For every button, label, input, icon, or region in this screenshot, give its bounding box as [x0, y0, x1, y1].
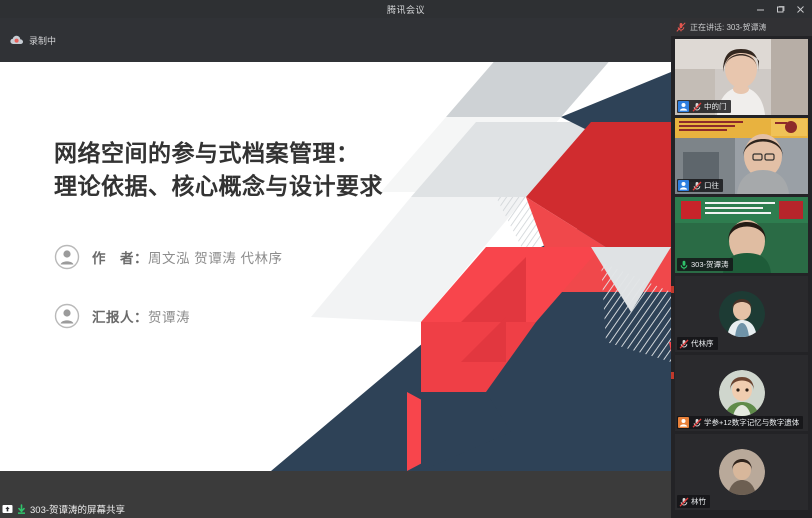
participants-panel[interactable]: 正在讲话: 303-贺谭涛: [671, 18, 812, 518]
mic-muted-icon: [690, 179, 703, 192]
participant-name: 口往: [703, 180, 719, 191]
screen-share-status[interactable]: 303-贺谭涛的屏幕共享: [2, 502, 125, 516]
person-icon: [54, 303, 80, 329]
author-value: 周文泓 贺谭涛 代林序: [148, 251, 283, 266]
host-icon: [677, 179, 690, 192]
recording-badge[interactable]: 录制中: [10, 34, 56, 47]
participant-name-chip: 中的门: [677, 100, 731, 113]
participant-tile[interactable]: 代林序: [675, 276, 808, 352]
presenter-label: 汇报人：: [92, 310, 148, 325]
participant-name: 林竹: [690, 496, 706, 507]
share-bottom-band: [0, 471, 671, 500]
participant-name: 学参+12数字记忆与数字遗体: [703, 417, 799, 428]
avatar: [719, 370, 765, 416]
participant-name: 代林序: [690, 338, 714, 349]
active-speaker-header: 正在讲话: 303-贺谭涛: [671, 18, 812, 36]
active-speaker-label: 正在讲话: 303-贺谭涛: [690, 22, 766, 33]
mic-muted-icon: [690, 416, 703, 429]
participant-name-chip: 口往: [677, 179, 723, 192]
screen-share-icon: [2, 504, 13, 515]
speaking-mic-icon: [676, 22, 686, 32]
cloud-recording-icon: [10, 35, 24, 45]
author-label: 作 者：: [92, 251, 148, 266]
presenter-text: 汇报人：贺谭涛: [92, 306, 190, 326]
mic-muted-icon: [677, 495, 690, 508]
mic-muted-icon: [690, 100, 703, 113]
person-icon: [54, 244, 80, 270]
mic-speaking-icon: [677, 258, 690, 271]
participant-tile[interactable]: 中的门: [675, 39, 808, 115]
download-arrow-icon: [16, 504, 27, 515]
author-row: 作 者：周文泓 贺谭涛 代林序: [54, 244, 454, 270]
close-button[interactable]: [790, 0, 810, 18]
avatar: [719, 449, 765, 495]
scroll-marker: [671, 372, 674, 379]
participant-name: 303-贺谭涛: [690, 259, 729, 270]
presenter-value: 贺谭涛: [148, 310, 190, 325]
participant-tile[interactable]: 学参+12数字记忆与数字遗体: [675, 355, 808, 431]
avatar: [719, 291, 765, 337]
participant-name-chip: 303-贺谭涛: [677, 258, 733, 271]
participant-name-chip: 学参+12数字记忆与数字遗体: [677, 416, 803, 429]
slide-meta-block: 作 者：周文泓 贺谭涛 代林序 汇报人：贺谭涛: [54, 244, 454, 329]
participant-tiles[interactable]: 中的门: [671, 39, 812, 510]
presentation-slide: 网络空间的参与式档案管理： 理论依据、核心概念与设计要求 作 者：周文泓 贺谭涛…: [0, 62, 671, 471]
participant-name-chip: 代林序: [677, 337, 718, 350]
minimize-button[interactable]: [750, 0, 770, 18]
maximize-button[interactable]: [770, 0, 790, 18]
slide-title: 网络空间的参与式档案管理： 理论依据、核心概念与设计要求: [54, 137, 454, 204]
scroll-marker: [671, 286, 674, 293]
recording-strip: 录制中: [0, 18, 671, 62]
participant-name-chip: 林竹: [677, 495, 710, 508]
title-bar: 腾讯会议: [0, 0, 812, 18]
host-icon: [677, 416, 690, 429]
participant-name: 中的门: [703, 101, 727, 112]
participant-tile[interactable]: 口往: [675, 118, 808, 194]
participant-tile-active[interactable]: 303-贺谭涛: [675, 197, 808, 273]
participant-tile[interactable]: 林竹: [675, 434, 808, 510]
status-bar: 303-贺谭涛的屏幕共享: [0, 500, 671, 518]
slide-text-block: 网络空间的参与式档案管理： 理论依据、核心概念与设计要求 作 者：周文泓 贺谭涛…: [54, 137, 454, 362]
host-icon: [677, 100, 690, 113]
tencent-meeting-window: 腾讯会议 录制中: [0, 0, 812, 518]
shared-screen-area[interactable]: 网络空间的参与式档案管理： 理论依据、核心概念与设计要求 作 者：周文泓 贺谭涛…: [0, 62, 671, 500]
share-status-label: 303-贺谭涛的屏幕共享: [30, 502, 125, 516]
mic-muted-icon: [677, 337, 690, 350]
window-title: 腾讯会议: [387, 3, 425, 16]
presenter-row: 汇报人：贺谭涛: [54, 303, 454, 329]
window-controls: [750, 0, 810, 18]
recording-label: 录制中: [29, 34, 56, 47]
author-text: 作 者：周文泓 贺谭涛 代林序: [92, 247, 283, 267]
